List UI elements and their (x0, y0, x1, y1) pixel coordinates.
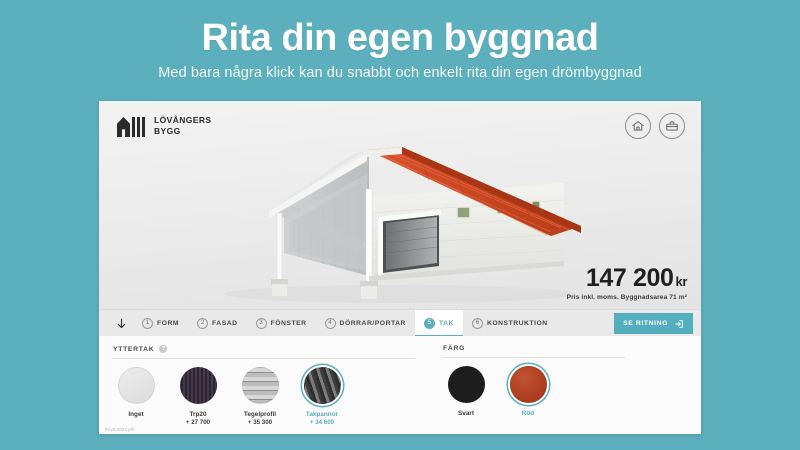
options-panel: YTTERTAK ? Inget Trp20 + 27 700 Tegelpro… (99, 336, 701, 434)
swatch-chip (304, 367, 341, 404)
step-item-fasad[interactable]: 2 FASAD (188, 310, 247, 337)
see-drawing-label: SE RITNING (623, 320, 668, 327)
collapse-panel-button[interactable] (109, 316, 133, 331)
swatch-list: Svart Röd (443, 366, 625, 418)
step-item-form[interactable]: 1 FORM (133, 310, 188, 337)
swatch-label: Röd (505, 409, 551, 418)
swatch-chip (180, 367, 217, 404)
model-viewport[interactable]: LÖVÅNGERS BYGG (99, 101, 701, 309)
step-number: 2 (197, 318, 208, 329)
step-label: FASAD (212, 320, 238, 327)
step-item-fonster[interactable]: 3 FÖNSTER (247, 310, 316, 337)
brand-line-1: LÖVÅNGERS (154, 115, 211, 126)
option-group-farg: FÄRG Svart Röd (429, 345, 639, 434)
help-icon[interactable]: ? (159, 345, 167, 353)
swatch-label: Takpannor (299, 410, 345, 419)
home-view-button[interactable] (625, 113, 651, 139)
price-note: Pris inkl. moms. Byggnadsarea 71 m² (567, 294, 687, 301)
divider (443, 357, 625, 358)
swatch-trp20[interactable]: Trp20 + 27 700 (175, 367, 221, 428)
swatch-price: + 27 700 (175, 419, 221, 428)
page-subtitle: Med bara några klick kan du snabbt och e… (158, 65, 641, 81)
swatch-rod[interactable]: Röd (505, 366, 551, 418)
swatch-list: Inget Trp20 + 27 700 Tegelprofil + 35 30… (113, 367, 415, 428)
viewport-toolbar (625, 113, 685, 139)
step-navigation: 1 FORM 2 FASAD 3 FÖNSTER 4 DÖRRAR/PORTAR… (99, 309, 701, 336)
brand-logo: LÖVÅNGERS BYGG (117, 115, 211, 137)
price-currency: kr (676, 274, 688, 289)
tools-button[interactable] (659, 113, 685, 139)
swatch-label: Inget (113, 410, 159, 419)
step-number: 6 (472, 318, 483, 329)
step-label: FORM (157, 320, 179, 327)
step-label: DÖRRAR/PORTAR (340, 320, 406, 327)
brand-line-2: BYGG (154, 126, 211, 137)
swatch-inget[interactable]: Inget (113, 367, 159, 428)
swatch-label: Tegelprofil (237, 410, 283, 419)
step-label: KONSTRUKTION (487, 320, 548, 327)
page-banner: Rita din egen byggnad Med bara några kli… (0, 0, 800, 100)
swatch-chip (242, 367, 279, 404)
swatch-takpannor[interactable]: Takpannor + 34 600 (299, 367, 345, 428)
swatch-chip (448, 366, 485, 403)
step-item-konstruktion[interactable]: 6 KONSTRUKTION (463, 310, 557, 337)
arrow-down-icon (115, 316, 128, 331)
price-block: 147 200kr Pris inkl. moms. Byggnadsarea … (567, 264, 687, 301)
swatch-label: Trp20 (175, 410, 221, 419)
step-item-tak[interactable]: 5 TAK (415, 310, 463, 337)
see-drawing-button[interactable]: SE RITNING (614, 313, 693, 334)
group-title: YTTERTAK (113, 346, 154, 353)
swatch-tegelprofil[interactable]: Tegelprofil + 35 300 (237, 367, 283, 428)
toolbox-icon (665, 119, 679, 133)
step-label: TAK (439, 320, 454, 327)
step-number: 5 (424, 318, 435, 329)
step-label: FÖNSTER (271, 320, 307, 327)
swatch-price: + 34 600 (299, 419, 345, 428)
swatch-svart[interactable]: Svart (443, 366, 489, 418)
step-number: 1 (142, 318, 153, 329)
price-amount: 147 200kr (567, 264, 687, 293)
group-title: FÄRG (443, 345, 465, 352)
swatch-chip (510, 366, 547, 403)
step-item-dorrar-portar[interactable]: 4 DÖRRAR/PORTAR (316, 310, 415, 337)
arrow-into-box-icon (674, 319, 684, 329)
swatch-label: Svart (443, 409, 489, 418)
configurator-app: LÖVÅNGERS BYGG (99, 101, 701, 434)
house-bars-logo-icon (117, 115, 147, 137)
step-number: 3 (256, 318, 267, 329)
step-list: 1 FORM 2 FASAD 3 FÖNSTER 4 DÖRRAR/PORTAR… (133, 310, 557, 337)
option-group-yttertak: YTTERTAK ? Inget Trp20 + 27 700 Tegelpro… (99, 345, 429, 434)
panel-footnote: Revit 2024 p/h (105, 427, 135, 432)
swatch-chip (118, 367, 155, 404)
divider (113, 358, 415, 359)
home-cloud-icon (631, 119, 645, 133)
swatch-price: + 35 300 (237, 419, 283, 428)
page-title: Rita din egen byggnad (202, 19, 599, 59)
step-number: 4 (325, 318, 336, 329)
